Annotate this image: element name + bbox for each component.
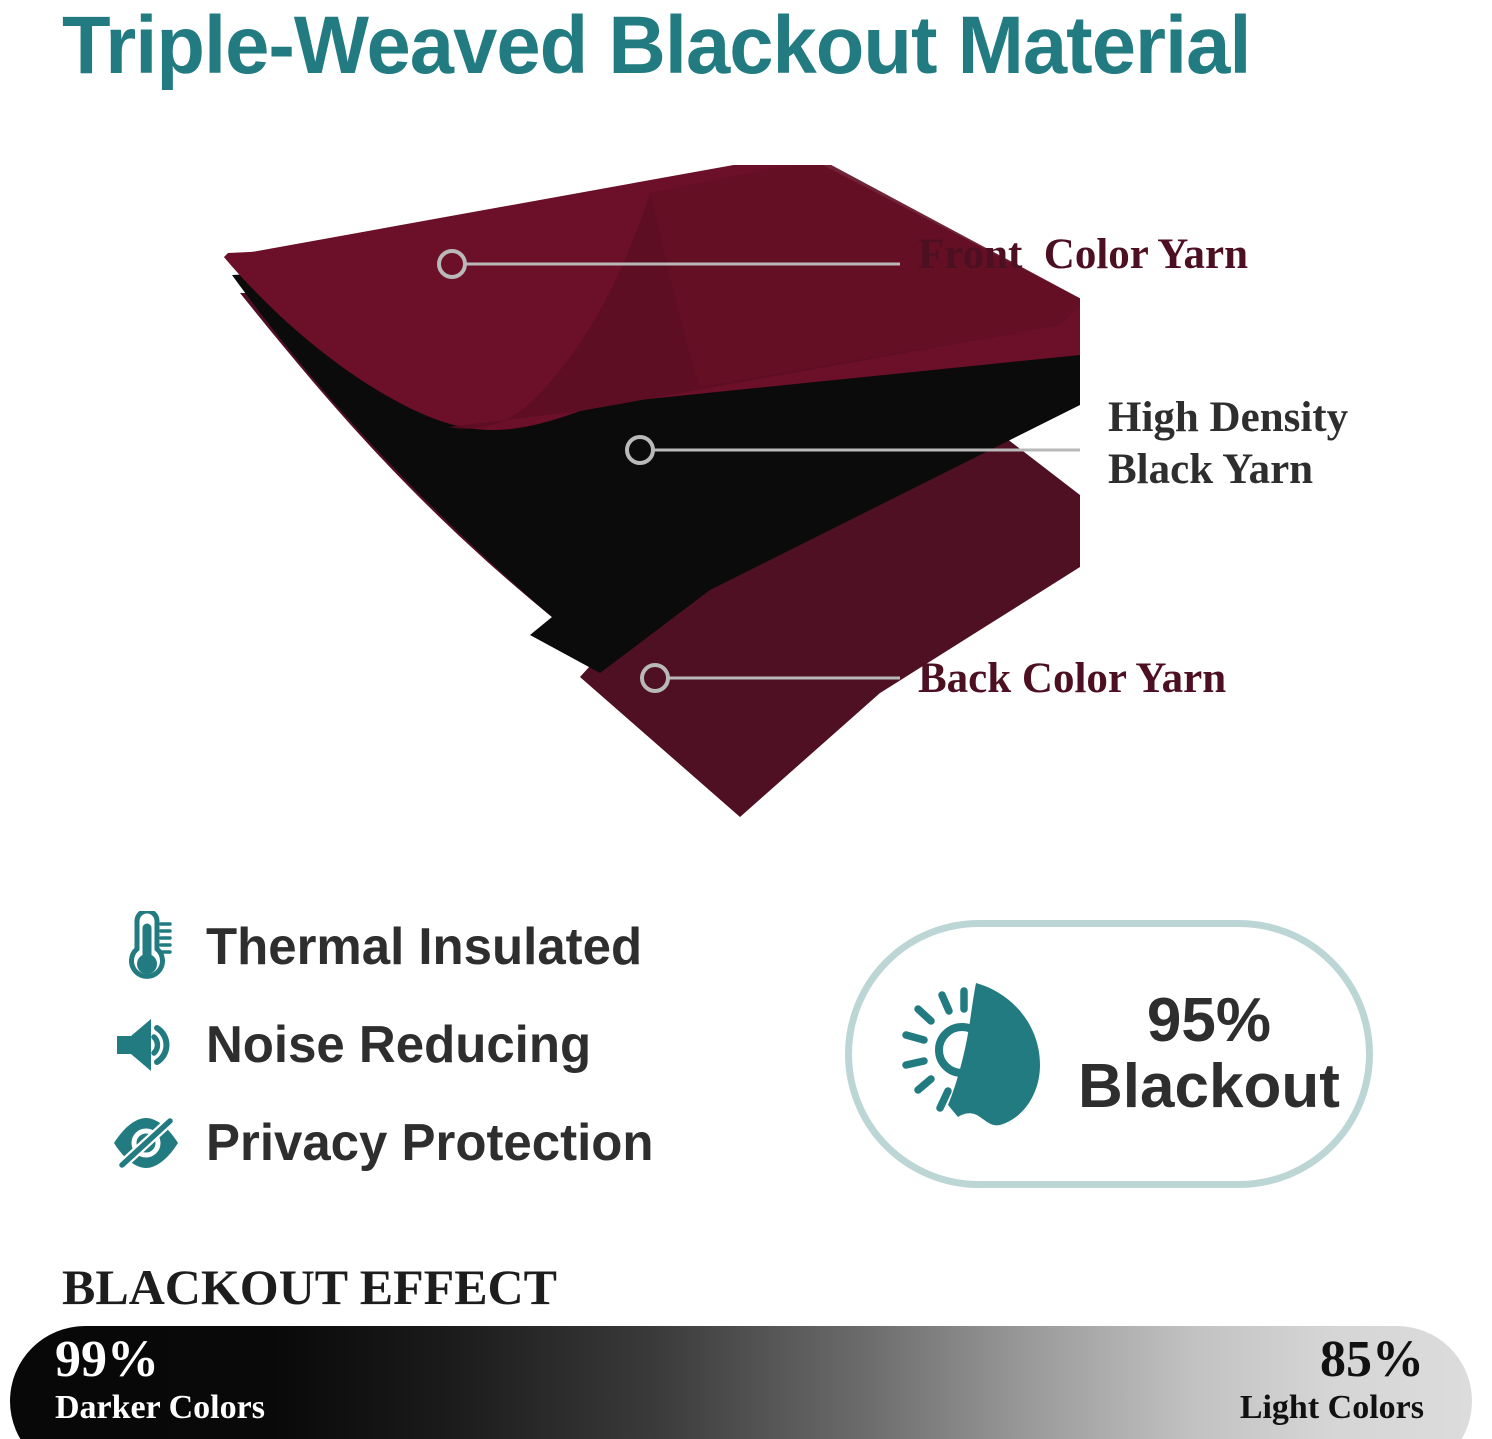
- badge-percent: 95%: [1078, 988, 1340, 1054]
- eye-slash-icon: [108, 1105, 184, 1181]
- feature-list: Thermal Insulated Noise Reducing: [108, 898, 768, 1192]
- sun-behind-curtain-icon: [900, 977, 1050, 1132]
- feature-label: Thermal Insulated: [206, 918, 642, 976]
- thermometer-icon: [108, 909, 184, 985]
- product-infographic: Triple-Weaved Blackout Material: [0, 0, 1492, 1439]
- feature-noise-reducing: Noise Reducing: [108, 996, 768, 1094]
- feature-thermal-insulated: Thermal Insulated: [108, 898, 768, 996]
- feature-label: Privacy Protection: [206, 1114, 653, 1172]
- light-caption: Light Colors: [1240, 1388, 1424, 1428]
- gradient-stat-dark: 99% Darker Colors: [55, 1332, 265, 1428]
- feature-label: Noise Reducing: [206, 1016, 591, 1074]
- speaker-volume-icon: [108, 1007, 184, 1083]
- callout-label-line-2: Black Yarn: [1108, 446, 1313, 493]
- callout-label-back-color-yarn: Back Color Yarn: [918, 653, 1226, 705]
- light-percent: 85%: [1240, 1332, 1424, 1388]
- badge-text-group: 95% Blackout: [1078, 988, 1340, 1120]
- callout-label-front-color-yarn: Front Color Yarn: [918, 229, 1248, 281]
- page-title: Triple-Weaved Blackout Material: [62, 0, 1420, 94]
- callout-label-line-1: High Density: [1108, 394, 1348, 441]
- feature-privacy-protection: Privacy Protection: [108, 1094, 768, 1192]
- gradient-stat-light: 85% Light Colors: [1240, 1332, 1424, 1428]
- badge-word: Blackout: [1078, 1054, 1340, 1120]
- dark-caption: Darker Colors: [55, 1388, 265, 1428]
- dark-percent: 99%: [55, 1332, 265, 1388]
- callout-label-high-density-black-yarn: High Density Black Yarn: [1108, 392, 1408, 496]
- blackout-effect-heading: BLACKOUT EFFECT: [62, 1258, 557, 1316]
- blackout-percentage-badge: 95% Blackout: [845, 920, 1373, 1188]
